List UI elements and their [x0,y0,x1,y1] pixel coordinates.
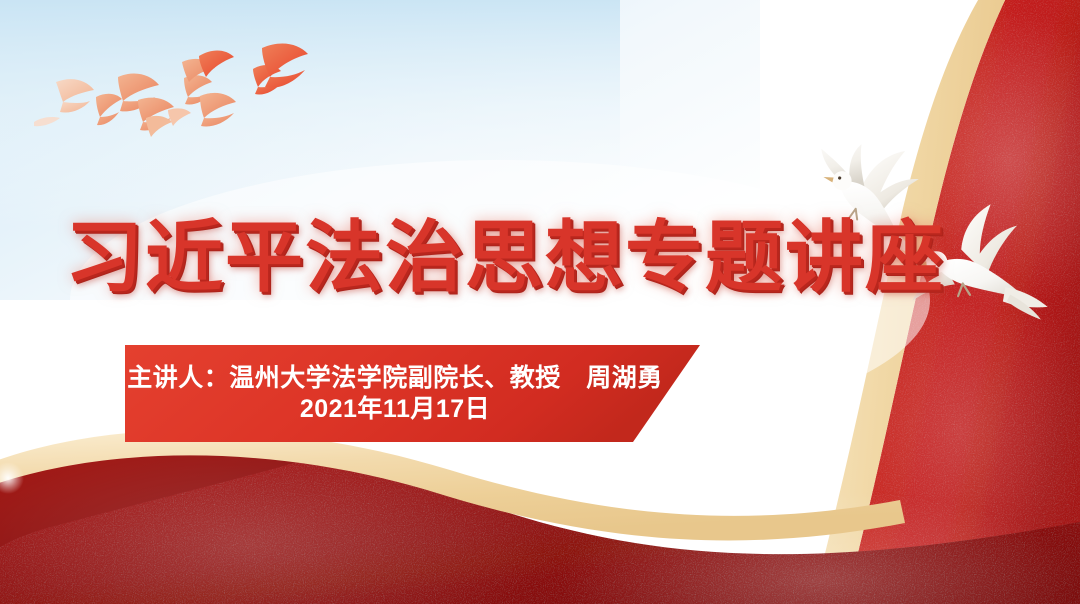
presentation-slide: 习近平法治思想专题讲座 主讲人：温州大学法学院副院长、教授 周湖勇 2021年1… [0,0,1080,604]
page-title: 习近平法治思想专题讲座 [65,218,945,296]
date-line: 2021年11月17日 [300,397,490,422]
subtitle-banner: 主讲人：温州大学法学院副院长、教授 周湖勇 2021年11月17日 [125,345,700,442]
presenter-line: 主讲人：温州大学法学院副院长、教授 周湖勇 [127,366,663,391]
slide-background [0,0,1080,604]
title-block: 习近平法治思想专题讲座 [0,218,1010,296]
banner-text-group: 主讲人：温州大学法学院副院长、教授 周湖勇 2021年11月17日 [125,345,665,442]
